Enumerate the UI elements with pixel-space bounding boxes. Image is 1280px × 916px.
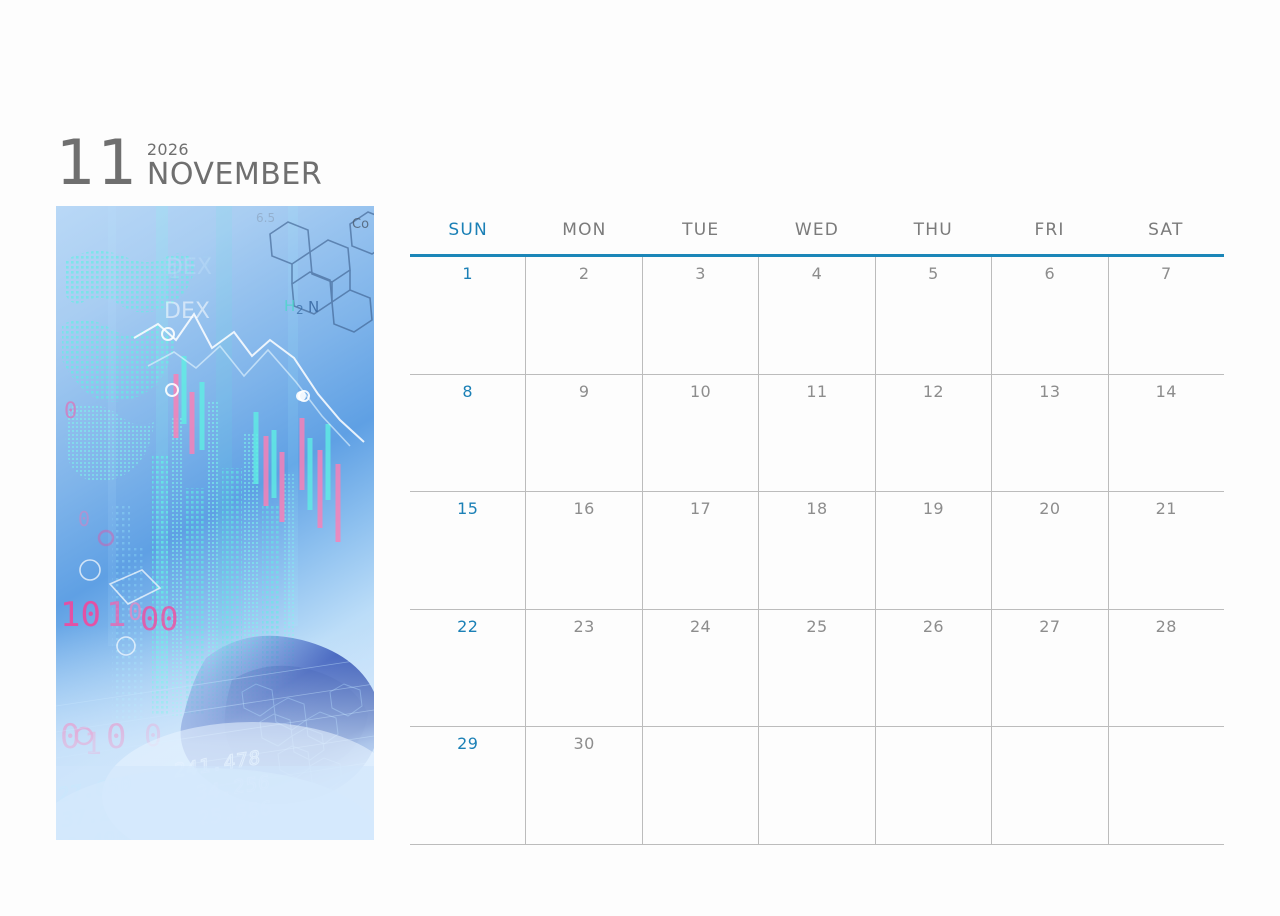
day-cell[interactable]: 21 <box>1109 492 1224 609</box>
svg-text:DEX: DEX <box>164 299 210 324</box>
day-number: 7 <box>1109 264 1224 283</box>
day-cell[interactable]: 2 <box>526 257 642 374</box>
day-number: 25 <box>759 617 874 636</box>
day-cell[interactable]: 8 <box>410 375 526 492</box>
day-cell[interactable]: 20 <box>992 492 1108 609</box>
weekday-header-wed: WED <box>759 220 875 240</box>
day-cell[interactable]: 12 <box>876 375 992 492</box>
calendar-weeks: 1 2 3 4 5 6 7 8 9 10 11 12 13 14 15 16 1… <box>410 257 1224 845</box>
svg-text:DEX: DEX <box>166 255 212 280</box>
day-cell[interactable]: 27 <box>992 610 1108 727</box>
day-number: 28 <box>1109 617 1224 636</box>
day-number: 3 <box>643 264 758 283</box>
day-number: 19 <box>876 499 991 518</box>
day-cell[interactable]: 18 <box>759 492 875 609</box>
day-cell[interactable]: 5 <box>876 257 992 374</box>
day-number: 26 <box>876 617 991 636</box>
day-cell-empty <box>759 727 875 844</box>
month-name-label: NOVEMBER <box>147 159 322 190</box>
day-number: 24 <box>643 617 758 636</box>
svg-text:0: 0 <box>78 507 90 531</box>
header-photo: 6.5 Co H 2 N 2 7 1 DEX DEX 0 10 1 0 00 0… <box>56 206 374 840</box>
week-row: 29 30 <box>410 727 1224 845</box>
weekday-header-tue: TUE <box>643 220 759 240</box>
day-cell-empty <box>1109 727 1224 844</box>
svg-text:N: N <box>308 298 319 316</box>
weekday-header-row: SUN MON TUE WED THU FRI SAT <box>410 206 1224 254</box>
day-cell[interactable]: 24 <box>643 610 759 727</box>
weekday-header-sat: SAT <box>1108 220 1224 240</box>
svg-text:0: 0 <box>64 399 77 424</box>
day-number: 29 <box>410 734 525 753</box>
day-cell[interactable]: 26 <box>876 610 992 727</box>
week-row: 8 9 10 11 12 13 14 <box>410 375 1224 493</box>
day-number: 6 <box>992 264 1107 283</box>
day-number: 21 <box>1109 499 1224 518</box>
week-row: 15 16 17 18 19 20 21 <box>410 492 1224 610</box>
day-cell[interactable]: 10 <box>643 375 759 492</box>
month-number: 11 <box>56 134 139 192</box>
day-cell-empty <box>876 727 992 844</box>
day-number: 16 <box>526 499 641 518</box>
day-cell-empty <box>643 727 759 844</box>
day-cell[interactable]: 15 <box>410 492 526 609</box>
weekday-header-sun: SUN <box>410 220 526 240</box>
day-cell[interactable]: 7 <box>1109 257 1224 374</box>
day-number: 20 <box>992 499 1107 518</box>
day-number: 2 <box>526 264 641 283</box>
day-number: 22 <box>410 617 525 636</box>
day-cell[interactable]: 19 <box>876 492 992 609</box>
svg-text:6.5: 6.5 <box>256 211 275 225</box>
day-number: 27 <box>992 617 1107 636</box>
year-label: 2026 <box>147 141 322 158</box>
day-number: 5 <box>876 264 991 283</box>
day-number: 11 <box>759 382 874 401</box>
day-cell[interactable]: 4 <box>759 257 875 374</box>
day-number: 1 <box>410 264 525 283</box>
month-title-block: 2026 NOVEMBER <box>147 141 322 192</box>
day-cell-empty <box>992 727 1108 844</box>
day-number: 15 <box>410 499 525 518</box>
day-number: 4 <box>759 264 874 283</box>
day-number: 8 <box>410 382 525 401</box>
day-cell[interactable]: 30 <box>526 727 642 844</box>
day-number: 10 <box>643 382 758 401</box>
day-cell[interactable]: 29 <box>410 727 526 844</box>
digital-finance-illustration: 6.5 Co H 2 N 2 7 1 DEX DEX 0 10 1 0 00 0… <box>56 206 374 840</box>
day-cell[interactable]: 28 <box>1109 610 1224 727</box>
day-number: 13 <box>992 382 1107 401</box>
day-cell[interactable]: 6 <box>992 257 1108 374</box>
svg-text:2: 2 <box>296 303 304 317</box>
calendar-grid: SUN MON TUE WED THU FRI SAT 1 2 3 4 5 6 … <box>410 206 1224 845</box>
weekday-header-mon: MON <box>526 220 642 240</box>
day-cell[interactable]: 14 <box>1109 375 1224 492</box>
day-number: 14 <box>1109 382 1224 401</box>
week-row: 22 23 24 25 26 27 28 <box>410 610 1224 728</box>
day-cell[interactable]: 11 <box>759 375 875 492</box>
day-cell[interactable]: 9 <box>526 375 642 492</box>
day-cell[interactable]: 22 <box>410 610 526 727</box>
weekday-header-fri: FRI <box>991 220 1107 240</box>
svg-text:H: H <box>284 297 295 315</box>
day-cell[interactable]: 17 <box>643 492 759 609</box>
day-cell[interactable]: 23 <box>526 610 642 727</box>
day-number: 17 <box>643 499 758 518</box>
day-number: 23 <box>526 617 641 636</box>
day-cell[interactable]: 3 <box>643 257 759 374</box>
day-number: 30 <box>526 734 641 753</box>
day-cell[interactable]: 13 <box>992 375 1108 492</box>
day-number: 18 <box>759 499 874 518</box>
day-number: 9 <box>526 382 641 401</box>
day-cell[interactable]: 1 <box>410 257 526 374</box>
week-row: 1 2 3 4 5 6 7 <box>410 257 1224 375</box>
day-cell[interactable]: 16 <box>526 492 642 609</box>
page-title: 11 2026 NOVEMBER <box>56 128 322 192</box>
weekday-header-thu: THU <box>875 220 991 240</box>
day-number: 12 <box>876 382 991 401</box>
day-cell[interactable]: 25 <box>759 610 875 727</box>
svg-text:Co: Co <box>352 217 369 232</box>
